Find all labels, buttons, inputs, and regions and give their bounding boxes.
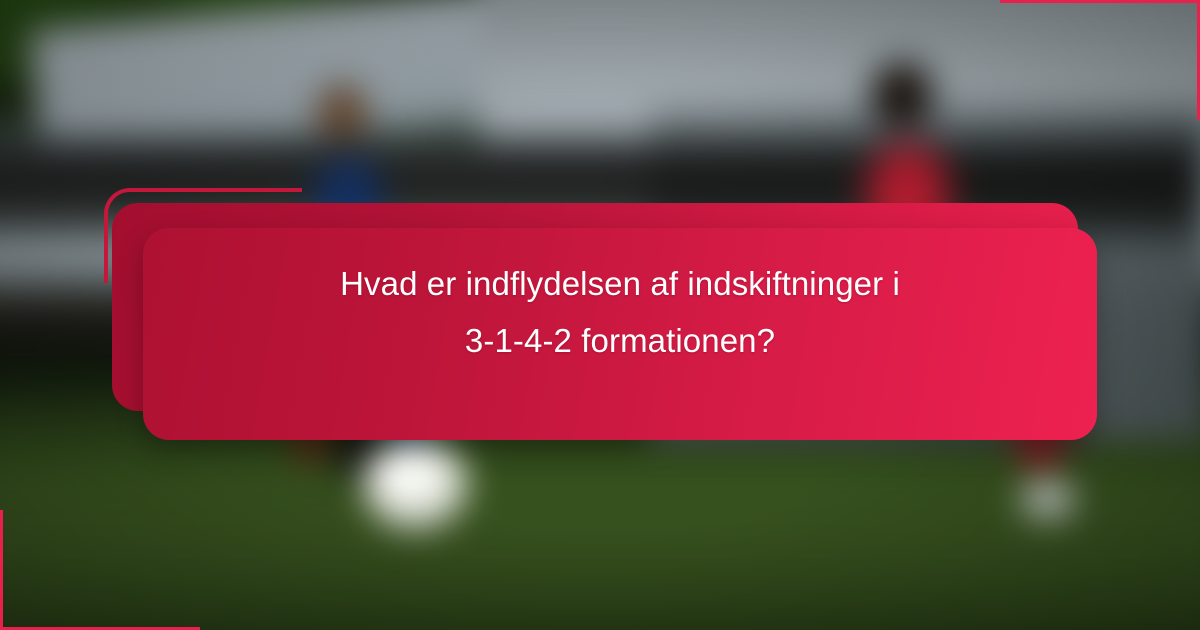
question-line-2: 3-1-4-2 formationen? — [150, 312, 1090, 369]
question-text: Hvad er indflydelsen af indskiftninger i… — [150, 255, 1090, 369]
corner-bracket-bottom-left-icon — [0, 510, 200, 630]
corner-bracket-top-right-icon — [1000, 0, 1200, 120]
question-line-1: Hvad er indflydelsen af indskiftninger i — [150, 255, 1090, 312]
corner-bracket-line-3 — [1028, 0, 1200, 92]
screenshot-stage: Hvad er indflydelsen af indskiftninger i… — [0, 0, 1200, 630]
corner-bracket-line-3 — [0, 538, 172, 630]
